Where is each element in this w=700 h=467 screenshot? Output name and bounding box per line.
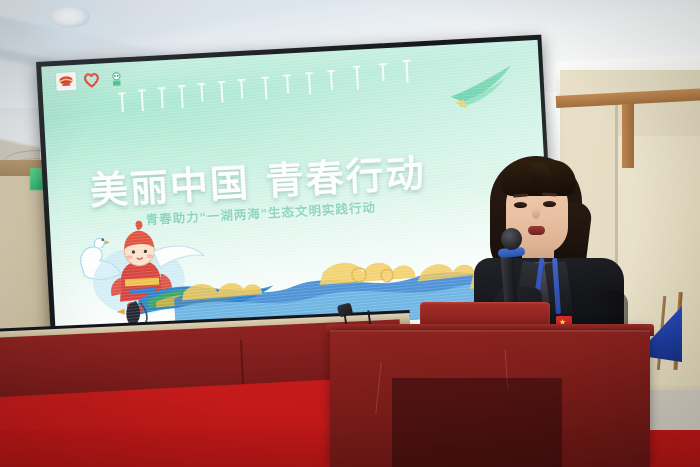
podium-under-shadow <box>392 378 562 467</box>
swallow-leaf-mark-icon <box>445 63 519 113</box>
eye-right <box>543 201 556 207</box>
mongolian-script-line <box>114 55 446 115</box>
mouth <box>528 226 545 235</box>
microphone-head <box>501 228 522 250</box>
nose <box>532 208 540 219</box>
emblem-logo-red-icon <box>56 72 77 91</box>
eye-left <box>514 202 527 208</box>
podium-scratch <box>375 362 381 414</box>
photo-scene: 美丽中国青春行动 青春助力“一湖两海”生态文明实践行动 <box>0 0 700 467</box>
heart-logo-red-icon <box>81 71 102 90</box>
recessed-downlight-icon <box>50 6 90 28</box>
